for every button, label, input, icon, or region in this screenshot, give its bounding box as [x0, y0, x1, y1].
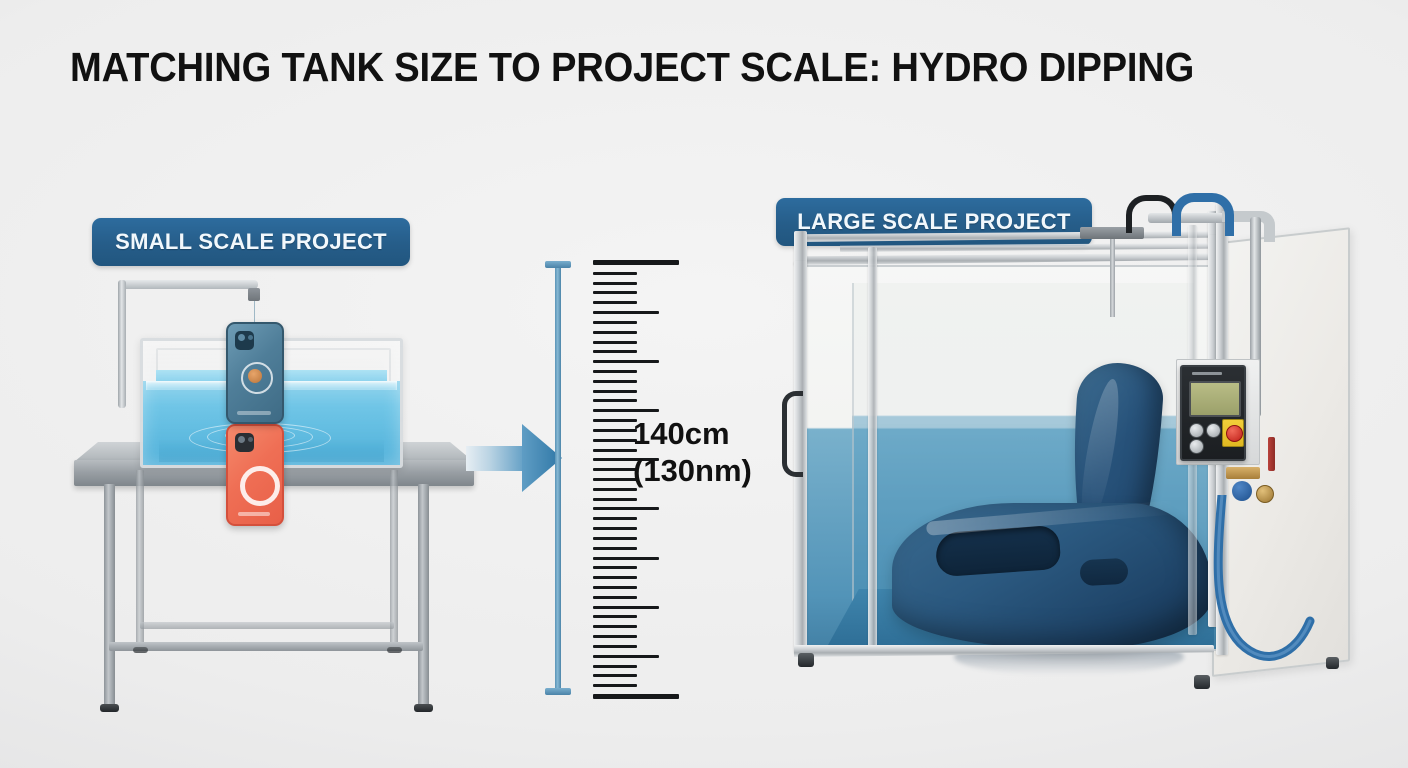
ruler-tick-minor	[593, 321, 637, 324]
infographic-canvas: MATCHING TANK SIZE TO PROJECT SCALE: HYD…	[0, 0, 1408, 768]
dimension-cap-bottom	[545, 688, 571, 695]
ruler-tick-minor	[593, 282, 637, 285]
ruler-tick-minor	[593, 674, 637, 677]
power-cable-loop	[1126, 195, 1178, 233]
small-scale-illustration	[60, 270, 480, 740]
phone-logo-icon	[241, 362, 273, 394]
table-foot-front-left	[100, 704, 119, 712]
ruler-tick-major	[593, 409, 659, 412]
ruler-tick-minor	[593, 390, 637, 393]
ruler-tick-minor	[593, 399, 637, 402]
ruler-tick-minor	[593, 331, 637, 334]
dipping-arm-beam	[118, 280, 258, 289]
table-foot-back-right	[387, 647, 402, 653]
table-rail-back	[140, 622, 394, 629]
table-leg-front-right	[418, 484, 429, 706]
ruler-tick-minor	[593, 439, 637, 442]
page-title: MATCHING TANK SIZE TO PROJECT SCALE: HYD…	[70, 44, 1194, 91]
ruler-tick-minor	[593, 419, 637, 422]
ruler-tick-minor	[593, 380, 637, 383]
panel-button-3[interactable]	[1189, 439, 1204, 454]
phone-brand-mark	[238, 512, 270, 516]
dimension-label: 140cm (130nm)	[633, 416, 803, 489]
dimension-value: 140cm	[633, 416, 803, 453]
ruler-tick-minor	[593, 291, 637, 294]
ruler-tick-end	[593, 260, 679, 265]
control-panel-screen	[1189, 381, 1241, 417]
ruler-tick-major	[593, 311, 659, 314]
valve-handle-red[interactable]	[1268, 437, 1275, 471]
dipping-arm-post	[118, 280, 126, 408]
ruler-tick-minor	[593, 370, 637, 373]
frame-rail-top-middle	[840, 243, 1210, 252]
ruler-tick-minor	[593, 341, 637, 344]
panel-button-2[interactable]	[1206, 423, 1221, 438]
panel-button-1[interactable]	[1189, 423, 1204, 438]
blue-drain-hose	[1210, 495, 1360, 675]
enclosure-tank-body	[802, 265, 1222, 651]
ruler-tick-minor	[593, 350, 637, 353]
camera-module-icon	[235, 433, 254, 452]
ruler-tick-minor	[593, 488, 637, 491]
part-hanger-rod	[1110, 239, 1115, 317]
enclosure-foot-center	[1194, 675, 1210, 689]
ruler-tick-minor	[593, 566, 637, 569]
ruler-tick-minor	[593, 635, 637, 638]
ruler-tick-major	[593, 557, 659, 560]
table-foot-back-left	[133, 647, 148, 653]
phone-brand-mark	[237, 411, 271, 415]
ruler-tick-major	[593, 360, 659, 363]
dipping-arm-clamp	[248, 288, 260, 301]
ruler-tick-minor	[593, 625, 637, 628]
ruler-tick-minor	[593, 645, 637, 648]
bumper-vent-opening	[1079, 558, 1128, 586]
ruler-tick-minor	[593, 527, 637, 530]
ruler-tick-minor	[593, 586, 637, 589]
dimension-secondary: (130nm)	[633, 453, 803, 490]
blue-phone-suspended	[226, 322, 284, 424]
table-foot-front-right	[414, 704, 433, 712]
ruler-tick-minor	[593, 596, 637, 599]
emergency-stop-button[interactable]	[1226, 425, 1243, 442]
emergency-stop-plate	[1222, 419, 1244, 447]
car-bumper-fascia	[892, 503, 1212, 649]
ruler-tick-minor	[593, 449, 637, 452]
ruler-tick-minor	[593, 665, 637, 668]
control-panel[interactable]	[1180, 365, 1246, 461]
ruler-tick-minor	[593, 272, 637, 275]
ruler-tick-minor	[593, 301, 637, 304]
arrow-shaft	[466, 446, 526, 471]
door-handle[interactable]	[782, 391, 803, 477]
dimension-line	[555, 264, 561, 694]
camera-module-icon	[235, 331, 254, 350]
panel-brand-mark	[1192, 372, 1222, 375]
large-scale-illustration	[780, 205, 1370, 735]
dimension-cap-top	[545, 261, 571, 268]
suspension-line	[254, 301, 256, 323]
ruler-tick-major	[593, 655, 659, 658]
blue-hose-loop	[1172, 193, 1234, 236]
phone-logo-icon	[240, 466, 280, 506]
ruler-tick-minor	[593, 684, 637, 687]
ruler-tick-minor	[593, 498, 637, 501]
ruler-tick-minor	[593, 615, 637, 618]
ruler-tick-end	[593, 694, 679, 699]
brass-fitting	[1226, 467, 1260, 479]
ruler-tick-minor	[593, 429, 637, 432]
ruler-tick-major	[593, 507, 659, 510]
ruler-tick-minor	[593, 547, 637, 550]
ruler-tick-minor	[593, 517, 637, 520]
enclosure-foot-left	[798, 653, 814, 667]
frame-corner-left	[794, 231, 807, 265]
frame-post-middle	[868, 247, 877, 649]
ruler-tick-major	[593, 606, 659, 609]
ruler-tick-minor	[593, 576, 637, 579]
ruler-tick-minor	[593, 478, 637, 481]
badge-small-scale-project: SMALL SCALE PROJECT	[92, 218, 410, 266]
frame-rail-top-front	[794, 253, 1214, 265]
table-rail-front	[109, 642, 423, 651]
table-leg-front-left	[104, 484, 115, 706]
orange-phone-submerged	[226, 424, 284, 526]
ruler-tick-minor	[593, 537, 637, 540]
ruler-tick-minor	[593, 468, 637, 471]
